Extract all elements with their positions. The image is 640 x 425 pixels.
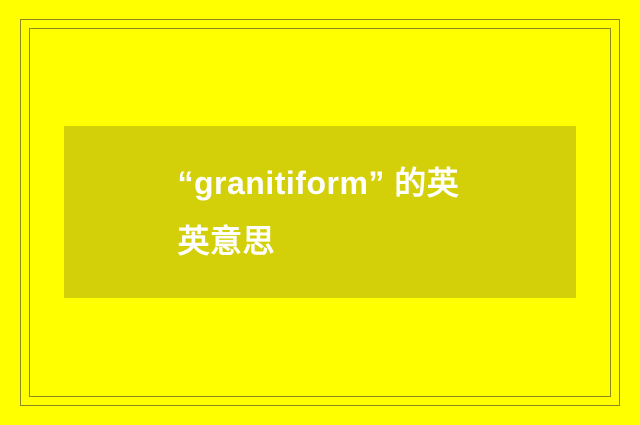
poster-canvas: “granitiform” 的英英意思 [0,0,640,425]
page-title: “granitiform” 的英英意思 [178,154,463,270]
headline-panel: “granitiform” 的英英意思 [64,126,576,298]
